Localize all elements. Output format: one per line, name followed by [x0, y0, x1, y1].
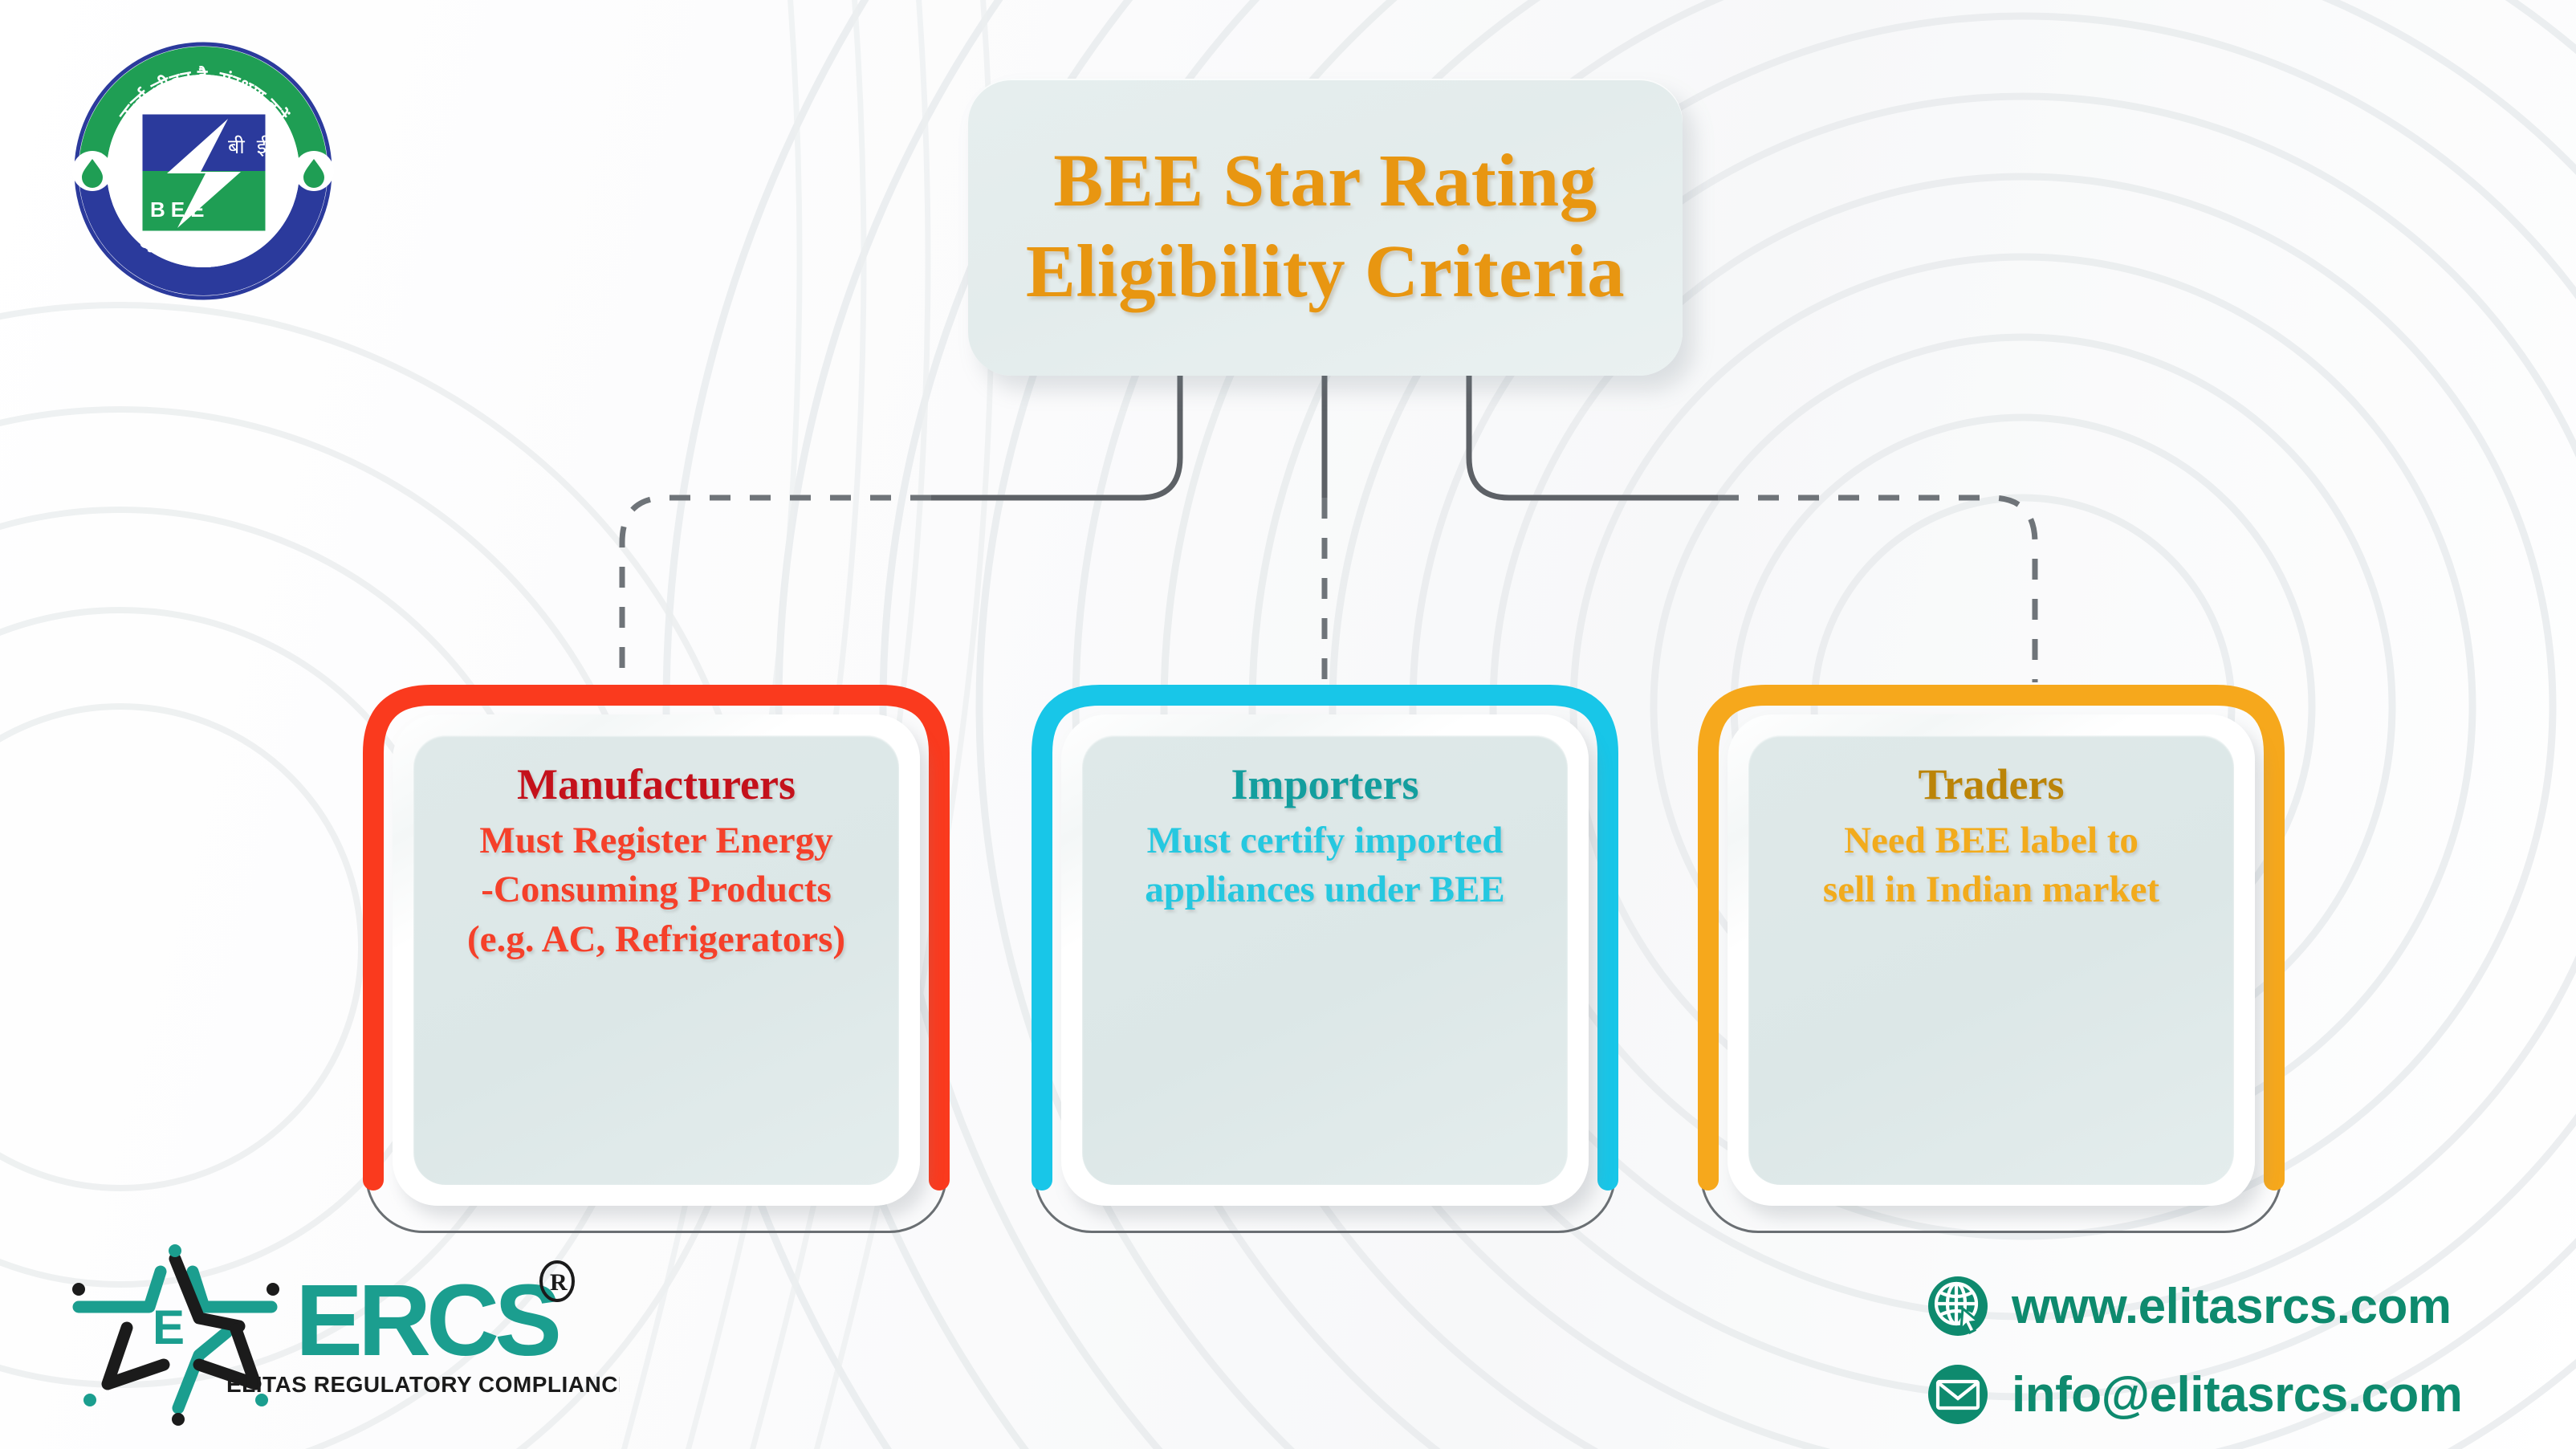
card-body-line: Must Register Energy — [417, 816, 896, 865]
star-center-letter: E — [153, 1300, 185, 1354]
card-inner-panel: Importers Must certify imported applianc… — [1061, 714, 1589, 1206]
card-body-manufacturers: Must Register Energy -Consuming Products… — [417, 816, 896, 963]
connector-left-solid — [931, 376, 1180, 498]
connector-left-dashed — [622, 498, 931, 682]
card-content: Manufacturers Must Register Energy -Cons… — [417, 761, 896, 964]
email-text: info@elitasrcs.com — [2012, 1366, 2462, 1423]
card-manufacturers[interactable]: Manufacturers Must Register Energy -Cons… — [365, 687, 947, 1233]
connector-right-dashed — [1718, 498, 2035, 682]
card-body-importers: Must certify imported appliances under B… — [1085, 816, 1565, 914]
bee-hindi-abbr: बी ई ई — [228, 135, 291, 158]
card-body-line: sell in Indian market — [1752, 865, 2231, 914]
ercs-tagline: ELITAS REGULATORY COMPLIANCE SERVICES — [226, 1372, 620, 1397]
page-title-line-2: Eligibility Criteria — [1026, 227, 1625, 318]
ercs-wordmark: ERCS — [295, 1264, 559, 1377]
card-body-line: -Consuming Products — [417, 865, 896, 914]
card-content: Importers Must certify imported applianc… — [1085, 761, 1565, 915]
star-segment-teal-right — [193, 1272, 271, 1307]
infographic-canvas: बी ई ई BEE ऊर्जा जीवन है, संरक्षण करें E… — [0, 0, 2576, 1449]
page-title-card: BEE Star Rating Eligibility Criteria — [968, 79, 1683, 376]
globe-icon — [1927, 1275, 1989, 1337]
card-heading-manufacturers: Manufacturers — [417, 761, 896, 808]
contact-block: www.elitasrcs.com info@elitasrcs.com — [1927, 1262, 2462, 1439]
svg-text:R: R — [550, 1269, 568, 1296]
card-body-line: Need BEE label to — [1752, 816, 2231, 865]
card-traders[interactable]: Traders Need BEE label to sell in Indian… — [1700, 687, 2282, 1233]
card-inner-panel: Manufacturers Must Register Energy -Cons… — [393, 714, 920, 1206]
envelope-icon — [1927, 1363, 1989, 1426]
card-inner-panel: Traders Need BEE label to sell in Indian… — [1728, 714, 2255, 1206]
card-body-line: appliances under BEE — [1085, 865, 1565, 914]
bee-abbr: BEE — [150, 197, 210, 222]
contact-row-website[interactable]: www.elitasrcs.com — [1927, 1262, 2462, 1350]
star-segment-teal-left — [79, 1272, 161, 1307]
connector-right-solid — [1469, 376, 1718, 498]
website-text: www.elitasrcs.com — [2012, 1278, 2451, 1335]
card-heading-importers: Importers — [1085, 761, 1565, 808]
card-importers[interactable]: Importers Must certify imported applianc… — [1034, 687, 1616, 1233]
card-body-line: Must certify imported — [1085, 816, 1565, 865]
card-content: Traders Need BEE label to sell in Indian… — [1752, 761, 2231, 915]
card-body-line: (e.g. AC, Refrigerators) — [417, 915, 896, 964]
page-title-line-1: BEE Star Rating — [1053, 136, 1597, 227]
contact-row-email[interactable]: info@elitasrcs.com — [1927, 1350, 2462, 1439]
bee-logo: बी ई ई BEE ऊर्जा जीवन है, संरक्षण करें E… — [71, 39, 336, 303]
card-body-traders: Need BEE label to sell in Indian market — [1752, 816, 2231, 914]
ercs-logo: E ERCS R ELITAS REGULATORY COMPLIANCE SE… — [58, 1243, 620, 1427]
card-heading-traders: Traders — [1752, 761, 2231, 808]
